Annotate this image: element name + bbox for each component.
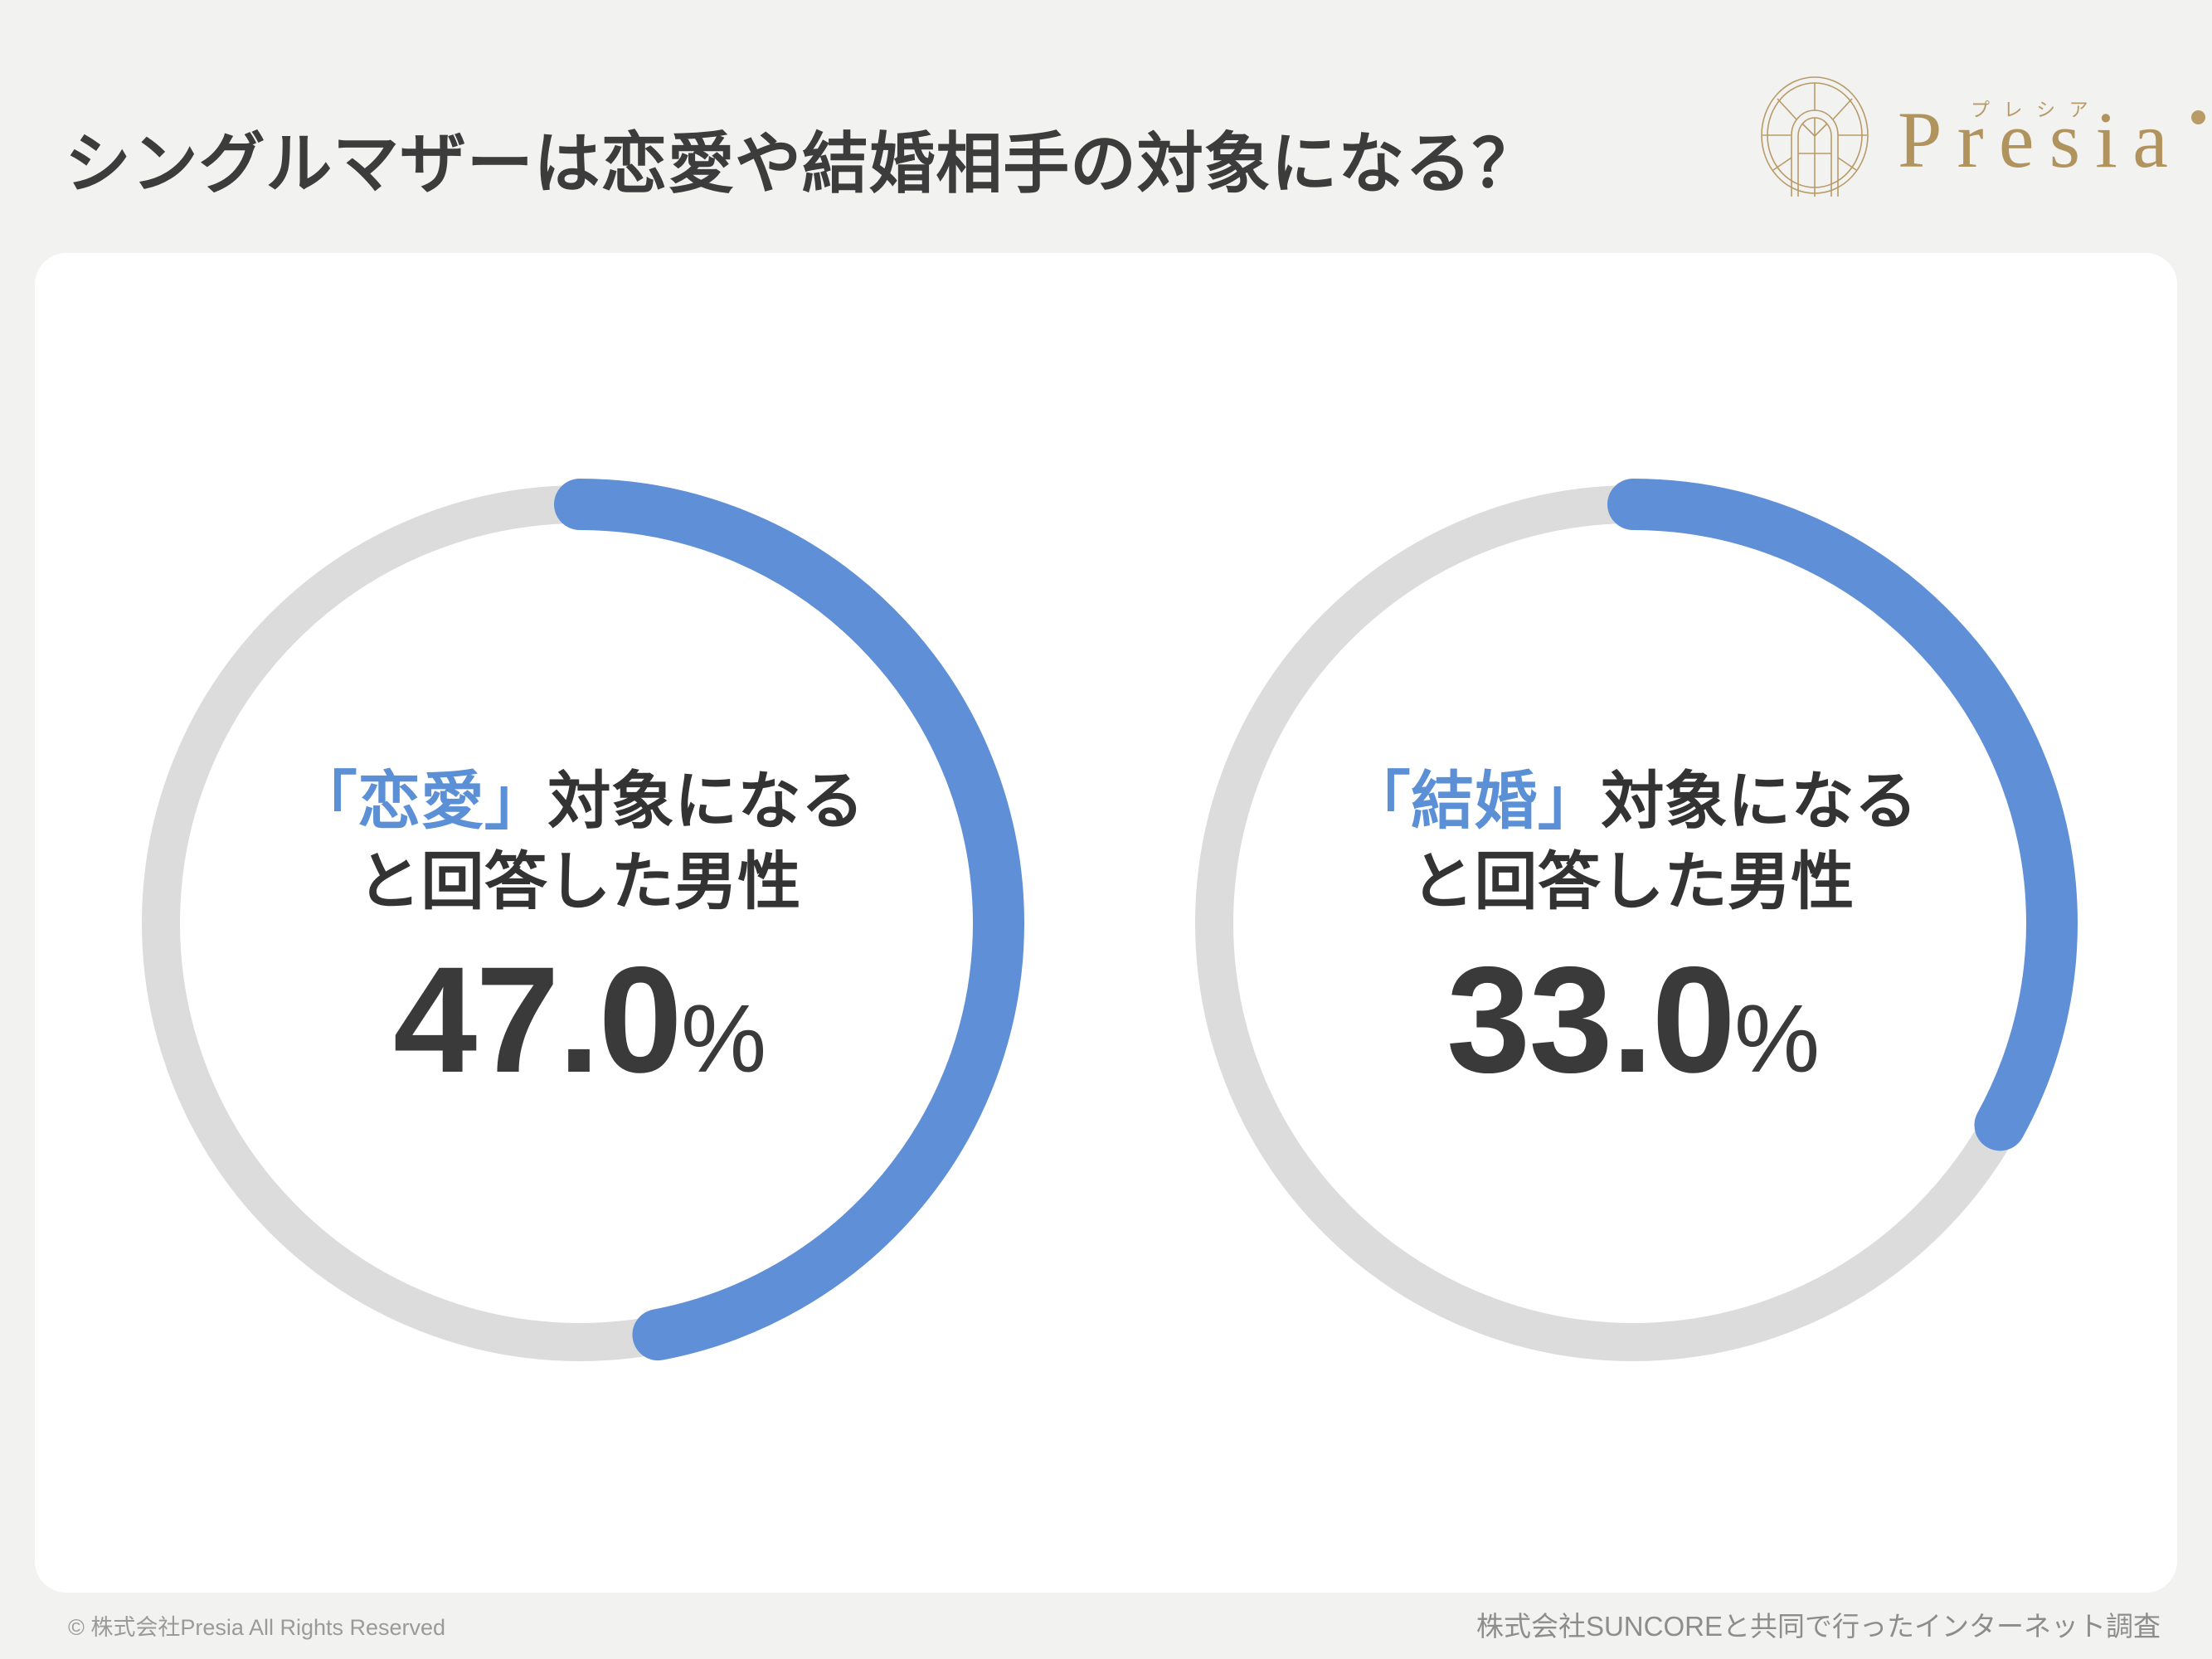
donut-label-line1-marriage: 「結婚」対象になる (1276, 761, 1990, 842)
donut-label-line1-romance: 「恋愛」対象になる (223, 761, 936, 842)
donut-value-romance: 47.0 (393, 935, 681, 1104)
donut-chart-romance: 「恋愛」対象になる と回答した男性 47.0% (124, 467, 1036, 1379)
brand-wordmark: プレシア Presia (1898, 74, 2181, 197)
footer-source-note: 株式会社SUNCOREと共同で行ったインターネット調査 (1476, 1604, 2161, 1644)
donut-unit-romance: % (681, 985, 766, 1092)
donut-unit-marriage: % (1734, 985, 1819, 1092)
donut-value-wrap-marriage: 33.0% (1276, 944, 1990, 1095)
page-header: シングルマザーは恋愛や結婚相手の対象になる？ プレシア Presia (0, 0, 2212, 253)
donut-chart-row: 「恋愛」対象になる と回答した男性 47.0% 「結婚」対象になる と回答した男… (35, 253, 2177, 1593)
donut-label-line2-romance: と回答した男性 (223, 842, 936, 922)
page-title: シングルマザーは恋愛や結婚相手の対象になる？ (65, 131, 1539, 197)
donut-label-rest-romance: 対象になる (547, 766, 864, 837)
donut-label-rest-marriage: 対象になる (1601, 766, 1918, 837)
donut-label-line2-marriage: と回答した男性 (1276, 842, 1990, 922)
donut-value-wrap-romance: 47.0% (223, 944, 936, 1095)
donut-label-highlight-romance: 「恋愛」 (294, 766, 548, 837)
presia-arch-emblem-icon (1757, 74, 1873, 197)
donut-label-highlight-marriage: 「結婚」 (1348, 766, 1602, 837)
content-card: 「恋愛」対象になる と回答した男性 47.0% 「結婚」対象になる と回答した男… (35, 253, 2177, 1593)
brand-name-label: Presia (1898, 100, 2183, 180)
brand-logo: プレシア Presia (1757, 73, 2181, 197)
donut-chart-marriage: 「結婚」対象になる と回答した男性 33.0% (1177, 467, 2089, 1379)
donut-value-marriage: 33.0 (1446, 935, 1734, 1104)
page-footer: © 株式会社Presia All Rights Reserved 株式会社SUN… (0, 1593, 2212, 1659)
donut-center-marriage: 「結婚」対象になる と回答した男性 33.0% (1276, 761, 1990, 1096)
donut-center-romance: 「恋愛」対象になる と回答した男性 47.0% (223, 761, 936, 1096)
footer-copyright: © 株式会社Presia All Rights Reserved (68, 1609, 445, 1642)
brand-dot-icon (2191, 110, 2205, 124)
